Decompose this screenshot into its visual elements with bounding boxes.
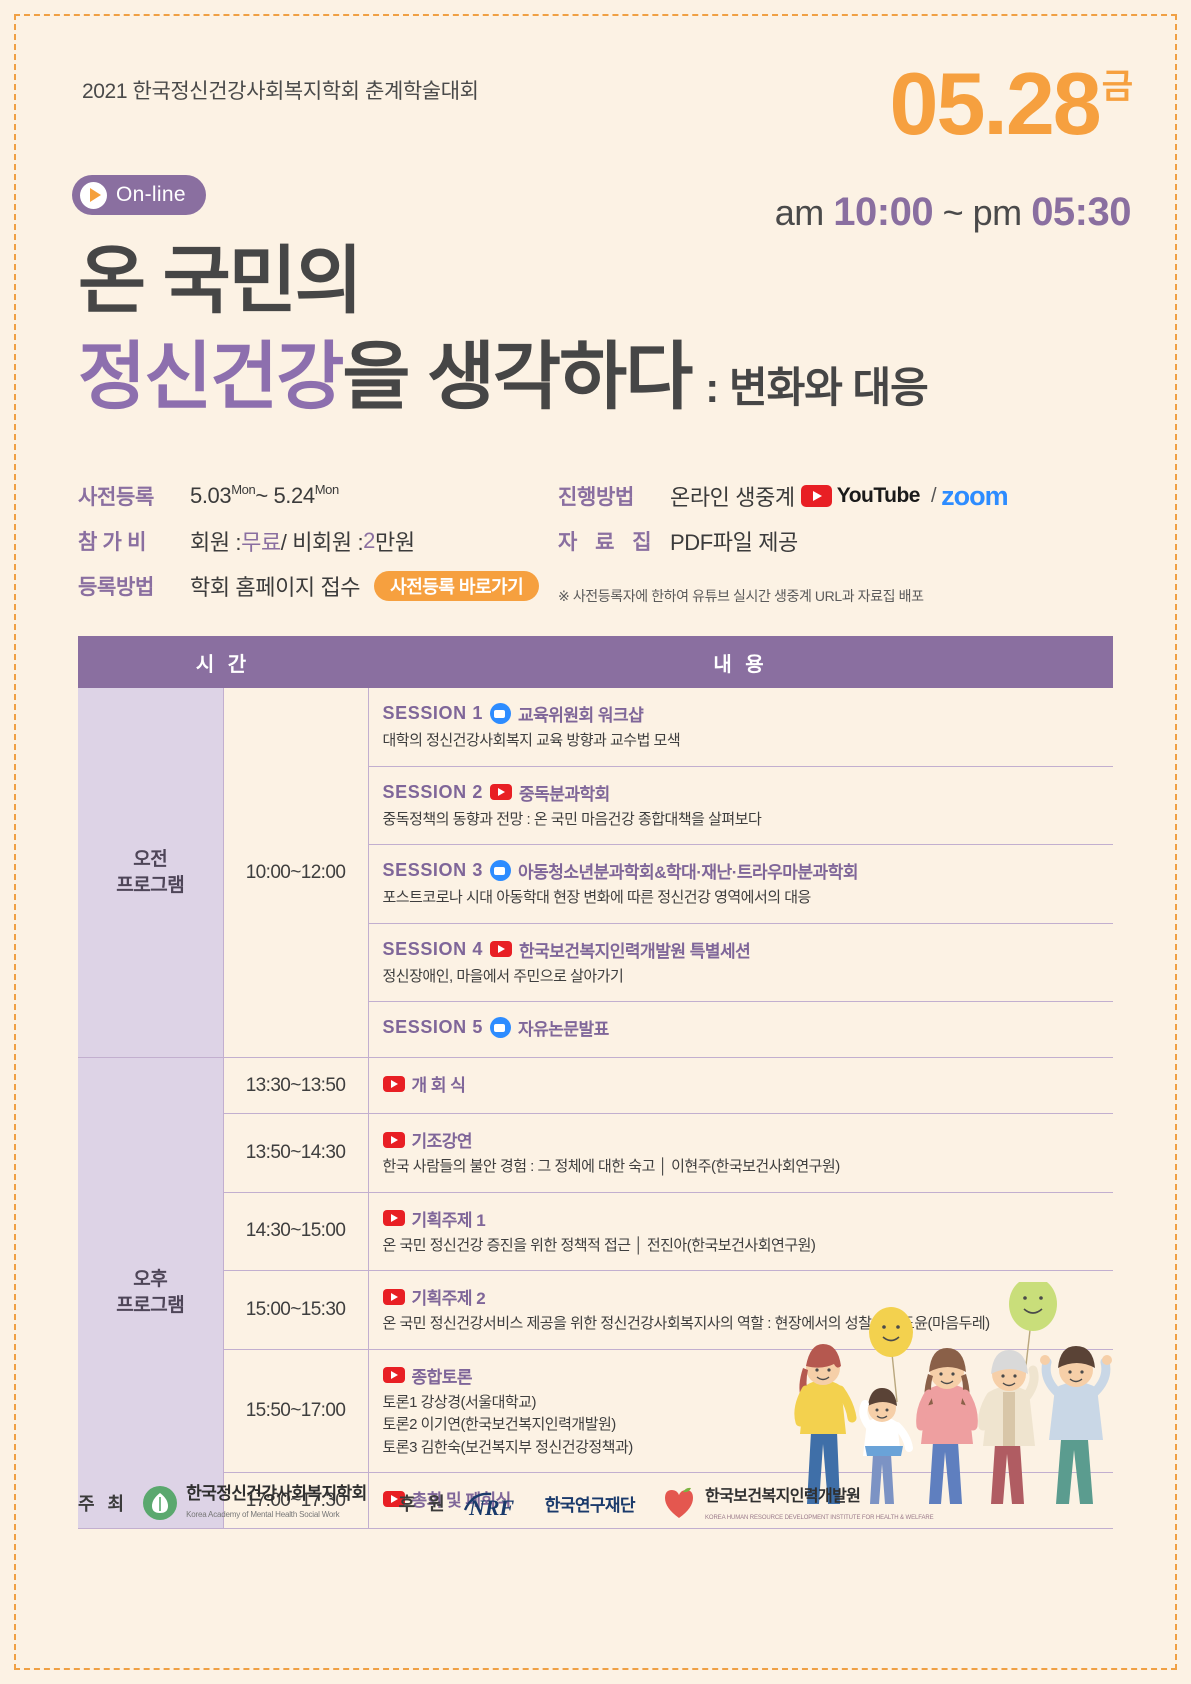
session-time: 13:30~13:50: [223, 1058, 368, 1114]
fee-divider-text: / 비회원 :: [281, 525, 363, 557]
morning-part-text: 오전프로그램: [116, 849, 184, 896]
zoom-wordmark: zoom: [941, 481, 1008, 512]
zoom-icon: [490, 703, 511, 724]
table-row: 13:50~14:30 기조강연 한국 사람들의 불안 경험 : 그 정체에 대…: [78, 1114, 1113, 1193]
sponsor-label: 후 원: [399, 1490, 449, 1516]
info-row-preregistration: 사전등록 5.03Mon~ 5.24Mon: [78, 478, 548, 514]
table-row: 오전프로그램 10:00~12:00 SESSION 1 교육위원회 워크샵 대…: [78, 688, 1113, 766]
session-description: 대학의 정신건강사회복지 교육 방향과 교수법 모색: [383, 730, 1114, 753]
session-time: 15:00~15:30: [223, 1271, 368, 1350]
info-row-delivery-method: 진행방법 온라인 생중계 YouTube / zoom: [558, 478, 1118, 514]
session-title: 자유논문발표: [518, 1015, 609, 1040]
morning-part-label: 오전프로그램: [78, 688, 223, 1058]
proceedings-value: PDF파일 제공: [670, 525, 798, 557]
svg-text:NRF: NRF: [468, 1495, 515, 1518]
session-header: SESSION 5 자유논문발표: [383, 1015, 1114, 1040]
online-badge-label: On-line: [116, 183, 186, 207]
zoom-icon: [490, 860, 511, 881]
session-description-line: 한국 사람들의 불안 경험 : 그 정체에 대한 숙고 │ 이현주(한국보건사회…: [383, 1156, 1114, 1179]
preregistration-label: 사전등록: [78, 481, 190, 511]
session-title: 개 회 식: [412, 1071, 466, 1096]
event-date-value: 05.28: [890, 60, 1100, 148]
table-row: 14:30~15:00 기획주제 1 온 국민 정신건강 증진을 위한 정책적 …: [78, 1192, 1113, 1271]
session-header: SESSION 4 한국보건복지인력개발원 특별세션: [383, 937, 1114, 962]
youtube-icon: [383, 1289, 405, 1305]
time-pm-label: pm: [973, 192, 1022, 233]
registration-method-text: 학회 홈페이지 접수: [190, 570, 360, 602]
title-subtitle: : 변화와 대응: [705, 367, 928, 409]
session-header: SESSION 1 교육위원회 워크샵: [383, 701, 1114, 726]
host-name-block: 한국정신건강사회복지학회 Korea Academy of Mental Hea…: [186, 1485, 366, 1522]
time-start: 10:00: [833, 190, 933, 234]
host-name: 한국정신건강사회복지학회: [186, 1484, 366, 1503]
session-number: SESSION 1: [383, 703, 483, 724]
kohi-name-english: KOREA HUMAN RESOURCE DEVELOPMENT INSTITU…: [705, 1515, 934, 1521]
session-header: SESSION 2 중독분과학회: [383, 780, 1114, 805]
session-cell: SESSION 5 자유논문발표: [368, 1002, 1113, 1058]
morning-time: 10:00~12:00: [223, 688, 368, 1058]
event-day-of-week: 금: [1102, 68, 1133, 106]
prereg-start: 5.03: [190, 483, 231, 509]
event-date: 05.28금: [890, 60, 1132, 148]
registration-method-label: 등록방법: [78, 571, 190, 601]
session-description: 한국 사람들의 불안 경험 : 그 정체에 대한 숙고 │ 이현주(한국보건사회…: [383, 1156, 1114, 1179]
event-time: am 10:00 ~ pm 05:30: [775, 190, 1131, 235]
session-description: 포스트코로나 시대 아동학대 현장 변화에 따른 정신건강 영역에서의 대응: [383, 887, 1114, 910]
program-table-head: 시 간 내 용: [78, 636, 1113, 688]
session-header: SESSION 3 아동청소년분과학회&학대·재난·트라우마분과학회: [383, 858, 1114, 883]
session-number: SESSION 3: [383, 860, 483, 881]
session-cell: SESSION 1 교육위원회 워크샵 대학의 정신건강사회복지 교육 방향과 …: [368, 688, 1113, 766]
preregistration-link-button[interactable]: 사전등록 바로가기: [374, 571, 539, 601]
session-title: 한국보건복지인력개발원 특별세션: [519, 937, 750, 962]
poster-title-line2: 정신건강을 생각하다: 변화와 대응: [78, 340, 928, 414]
youtube-logo: YouTube: [801, 484, 920, 508]
session-description-line: 포스트코로나 시대 아동학대 현장 변화에 따른 정신건강 영역에서의 대응: [383, 887, 1114, 910]
session-description-line: 중독정책의 동향과 전망 : 온 국민 마음건강 종합대책을 살펴보다: [383, 809, 1114, 832]
session-header: 기조강연: [383, 1127, 1114, 1152]
column-header-time: 시 간: [78, 636, 368, 688]
poster-title-line1: 온 국민의: [78, 244, 361, 318]
kohi-name-block: 한국보건복지인력개발원 KOREA HUMAN RESOURCE DEVELOP…: [705, 1482, 934, 1524]
session-title: 기획주제 2: [412, 1284, 486, 1309]
session-cell: SESSION 4 한국보건복지인력개발원 특별세션 정신장애인, 마을에서 주…: [368, 923, 1113, 1002]
nrf-logo-icon: NRF: [463, 1488, 537, 1518]
info-row-registration-method: 등록방법 학회 홈페이지 접수 사전등록 바로가기: [78, 568, 548, 604]
session-title: 기획주제 1: [412, 1206, 486, 1231]
youtube-icon: [383, 1132, 405, 1148]
program-table-header-row: 시 간 내 용: [78, 636, 1113, 688]
session-title: 교육위원회 워크샵: [518, 701, 643, 726]
time-am-label: am: [775, 192, 824, 233]
info-column-left: 사전등록 5.03Mon~ 5.24Mon 참 가 비 회원 : 무료 / 비회…: [78, 478, 548, 613]
sponsor-kohi: 한국보건복지인력개발원 KOREA HUMAN RESOURCE DEVELOP…: [661, 1482, 934, 1524]
session-cell: 개 회 식: [368, 1058, 1113, 1114]
youtube-icon: [490, 941, 512, 957]
fee-member-amount: 무료: [241, 525, 281, 557]
title-rest: 을 생각하다: [342, 340, 691, 414]
footer: 주 최 한국정신건강사회복지학회 Korea Academy of Mental…: [78, 1482, 934, 1524]
info-row-fee: 참 가 비 회원 : 무료 / 비회원 : 2만원: [78, 523, 548, 559]
people-illustration: [793, 1282, 1153, 1512]
session-title: 중독분과학회: [519, 780, 610, 805]
session-description: 정신장애인, 마을에서 주민으로 살아가기: [383, 966, 1114, 989]
zoom-icon: [490, 1017, 511, 1038]
kohi-logo-icon: [661, 1486, 697, 1520]
session-cell: SESSION 2 중독분과학회 중독정책의 동향과 전망 : 온 국민 마음건…: [368, 766, 1113, 845]
session-cell: SESSION 3 아동청소년분과학회&학대·재난·트라우마분과학회 포스트코로…: [368, 845, 1113, 924]
session-description: 온 국민 정신건강 증진을 위한 정책적 접근 │ 전진아(한국보건사회연구원): [383, 1235, 1114, 1258]
fee-value: 회원 : 무료 / 비회원 : 2만원: [190, 525, 415, 557]
session-number: SESSION 2: [383, 782, 483, 803]
youtube-icon: [383, 1076, 405, 1092]
info-column-right: 진행방법 온라인 생중계 YouTube / zoom 자 료 집 PDF파일 …: [558, 478, 1118, 568]
poster-root: 2021 한국정신건강사회복지학회 춘계학술대회 On-line 온 국민의 정…: [0, 0, 1191, 1684]
fee-member-text: 회원 :: [190, 525, 241, 557]
play-icon: [80, 182, 107, 209]
prereg-end-dow: Mon: [315, 482, 339, 497]
youtube-icon: [383, 1210, 405, 1226]
session-description-line: 대학의 정신건강사회복지 교육 방향과 교수법 모색: [383, 730, 1114, 753]
fee-nonmember-unit: 만원: [375, 525, 415, 557]
session-header: 기획주제 1: [383, 1206, 1114, 1231]
delivery-method-value: 온라인 생중계 YouTube / zoom: [670, 480, 1008, 512]
time-end: 05:30: [1031, 190, 1131, 234]
title-highlight: 정신건강: [78, 340, 342, 414]
afternoon-part-label: 오후프로그램: [78, 1058, 223, 1529]
preregistration-value: 5.03Mon~ 5.24Mon: [190, 483, 339, 509]
registration-method-value: 학회 홈페이지 접수 사전등록 바로가기: [190, 570, 539, 602]
session-header: 개 회 식: [383, 1071, 1114, 1096]
session-description-line: 온 국민 정신건강 증진을 위한 정책적 접근 │ 전진아(한국보건사회연구원): [383, 1235, 1114, 1258]
table-row: 오후프로그램 13:30~13:50 개 회 식: [78, 1058, 1113, 1114]
youtube-icon: [801, 485, 832, 507]
sponsor-nrf: NRF 한국연구재단: [463, 1488, 635, 1518]
kohi-name: 한국보건복지인력개발원: [705, 1488, 860, 1505]
session-title: 기조강연: [412, 1127, 473, 1152]
session-number: SESSION 5: [383, 1017, 483, 1038]
session-number: SESSION 4: [383, 939, 483, 960]
host-label: 주 최: [78, 1490, 128, 1516]
delivery-method-text: 온라인 생중계: [670, 480, 795, 512]
session-cell: 기조강연 한국 사람들의 불안 경험 : 그 정체에 대한 숙고 │ 이현주(한…: [368, 1114, 1113, 1193]
session-title: 종합토론: [412, 1363, 473, 1388]
session-description: 중독정책의 동향과 전망 : 온 국민 마음건강 종합대책을 살펴보다: [383, 809, 1114, 832]
youtube-wordmark: YouTube: [837, 484, 920, 508]
youtube-icon: [383, 1367, 405, 1383]
host-name-english: Korea Academy of Mental Health Social Wo…: [186, 1510, 339, 1519]
session-time: 13:50~14:30: [223, 1114, 368, 1193]
proceedings-label: 자 료 집: [558, 526, 670, 556]
session-time: 14:30~15:00: [223, 1192, 368, 1271]
delivery-method-label: 진행방법: [558, 481, 670, 511]
column-header-content: 내 용: [368, 636, 1113, 688]
prereg-mid: ~ 5.24: [255, 483, 314, 509]
afternoon-part-text: 오후프로그램: [116, 1269, 184, 1316]
prereg-start-dow: Mon: [231, 482, 255, 497]
logo-separator: /: [931, 485, 936, 508]
poster-kicker: 2021 한국정신건강사회복지학회 춘계학술대회: [82, 75, 479, 105]
time-separator: ~: [943, 192, 964, 233]
session-cell: 기획주제 1 온 국민 정신건강 증진을 위한 정책적 접근 │ 전진아(한국보…: [368, 1192, 1113, 1271]
registration-note: ※ 사전등록자에 한하여 유튜브 실시간 생중계 URL과 자료집 배포: [558, 586, 924, 606]
kamhsw-logo-icon: [142, 1485, 178, 1521]
session-description-line: 정신장애인, 마을에서 주민으로 살아가기: [383, 966, 1114, 989]
session-time: 15:50~17:00: [223, 1349, 368, 1473]
host-organization: 한국정신건강사회복지학회 Korea Academy of Mental Hea…: [142, 1485, 366, 1522]
nrf-name: 한국연구재단: [545, 1491, 635, 1516]
info-row-proceedings: 자 료 집 PDF파일 제공: [558, 523, 1118, 559]
youtube-icon: [490, 784, 512, 800]
fee-label: 참 가 비: [78, 526, 190, 556]
session-title: 아동청소년분과학회&학대·재난·트라우마분과학회: [518, 858, 858, 883]
fee-nonmember-amount: 2: [363, 528, 375, 554]
online-badge: On-line: [72, 175, 206, 215]
